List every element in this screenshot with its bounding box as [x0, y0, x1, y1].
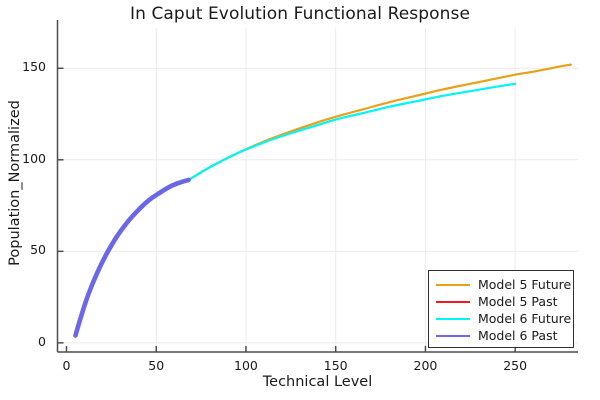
series-line-model-6-future: [189, 84, 516, 180]
legend-item[interactable]: Model 5 Future: [429, 276, 573, 293]
x-tick-label: 250: [485, 358, 545, 373]
legend-item[interactable]: Model 6 Future: [429, 310, 573, 327]
y-tick-label: 0: [0, 334, 46, 349]
legend-item[interactable]: Model 6 Past: [429, 327, 573, 344]
legend-color-swatch: [436, 318, 470, 320]
x-tick-label: 0: [36, 358, 96, 373]
x-tick-label: 150: [306, 358, 366, 373]
series-line-model-6-past: [75, 180, 188, 336]
legend-label: Model 6 Future: [478, 310, 571, 327]
legend-label: Model 6 Past: [478, 327, 557, 344]
legend-color-swatch: [436, 335, 470, 337]
series-line-model-5-past: [75, 180, 188, 336]
legend-item[interactable]: Model 5 Past: [429, 293, 573, 310]
y-tick-label: 100: [0, 151, 46, 166]
chart-legend: Model 5 FutureModel 5 PastModel 6 Future…: [428, 270, 574, 348]
legend-color-swatch: [436, 284, 470, 286]
legend-color-swatch: [436, 301, 470, 303]
legend-label: Model 5 Future: [478, 276, 571, 293]
y-tick-label: 50: [0, 242, 46, 257]
x-tick-label: 50: [126, 358, 186, 373]
x-tick-label: 200: [395, 358, 455, 373]
x-tick-label: 100: [216, 358, 276, 373]
chart-figure: In Caput Evolution Functional Response P…: [0, 0, 600, 400]
y-tick-label: 150: [0, 59, 46, 74]
legend-label: Model 5 Past: [478, 293, 557, 310]
